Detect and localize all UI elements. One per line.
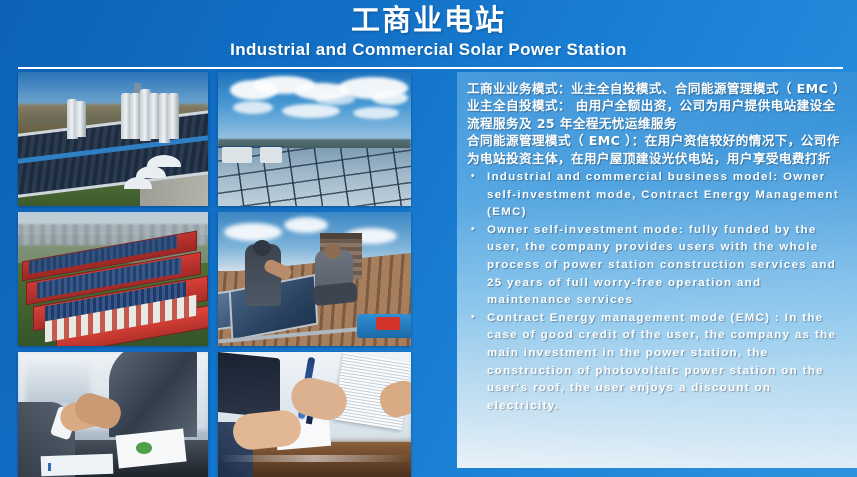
cloud-shape [353, 107, 399, 119]
chinese-paragraph-2: 业主全自投模式： 由用户全额出资，公司为用户提供电站建设全流程服务及 25 年全… [467, 97, 843, 132]
desk-reflection [218, 455, 411, 463]
list-item: Contract Energy management mode (EMC) : … [467, 310, 843, 416]
page-title-english: Industrial and Commercial Solar Power St… [0, 38, 857, 62]
chart-mark [136, 442, 152, 454]
cloud-shape [282, 104, 340, 118]
description-panel: 工商业业务模式：业主全自投模式、合同能源管理模式（ EMC ） 业主全自投模式：… [457, 72, 857, 468]
slide-root: 工商业电站 Industrial and Commercial Solar Po… [0, 0, 857, 477]
silo-shape [75, 101, 86, 137]
photo-aerial-red-roof-factories-solar [18, 212, 208, 346]
silo-shape [168, 93, 179, 139]
english-bullet-list: Industrial and commercial business model… [467, 169, 843, 415]
suit-right [109, 352, 196, 437]
roof-duct [222, 147, 252, 163]
worker-head [253, 240, 271, 256]
chart-bar [48, 463, 51, 471]
photo-business-handshake-desk [18, 352, 208, 477]
chinese-paragraph-3: 合同能源管理模式（ EMC ）：在用户资信较好的情况下，公司作为电站投资主体，在… [467, 132, 843, 167]
photo-flat-roof-solar-panel-field [218, 72, 411, 206]
document-sheet [40, 453, 113, 476]
tool-tray [376, 317, 400, 330]
image-gallery [18, 72, 411, 477]
page-title-chinese: 工商业电站 [0, 0, 857, 38]
photo-aerial-industrial-plant-rooftop-solar [18, 72, 208, 206]
roof-duct [260, 147, 282, 163]
sky-layer [18, 72, 208, 107]
header-divider [18, 67, 843, 69]
list-item: Owner self-investment mode: fully funded… [467, 222, 843, 310]
cloud-shape [224, 223, 282, 241]
photo-workers-installing-roof-panel [218, 212, 411, 346]
cloud-shape [372, 91, 408, 105]
slide-header: 工商业电站 Industrial and Commercial Solar Po… [0, 0, 857, 68]
list-item: Industrial and commercial business model… [467, 169, 843, 222]
laptop-shape [218, 352, 280, 418]
chinese-paragraph-1: 工商业业务模式：业主全自投模式、合同能源管理模式（ EMC ） [467, 80, 843, 97]
photo-hand-signing-document-pen [218, 352, 411, 477]
